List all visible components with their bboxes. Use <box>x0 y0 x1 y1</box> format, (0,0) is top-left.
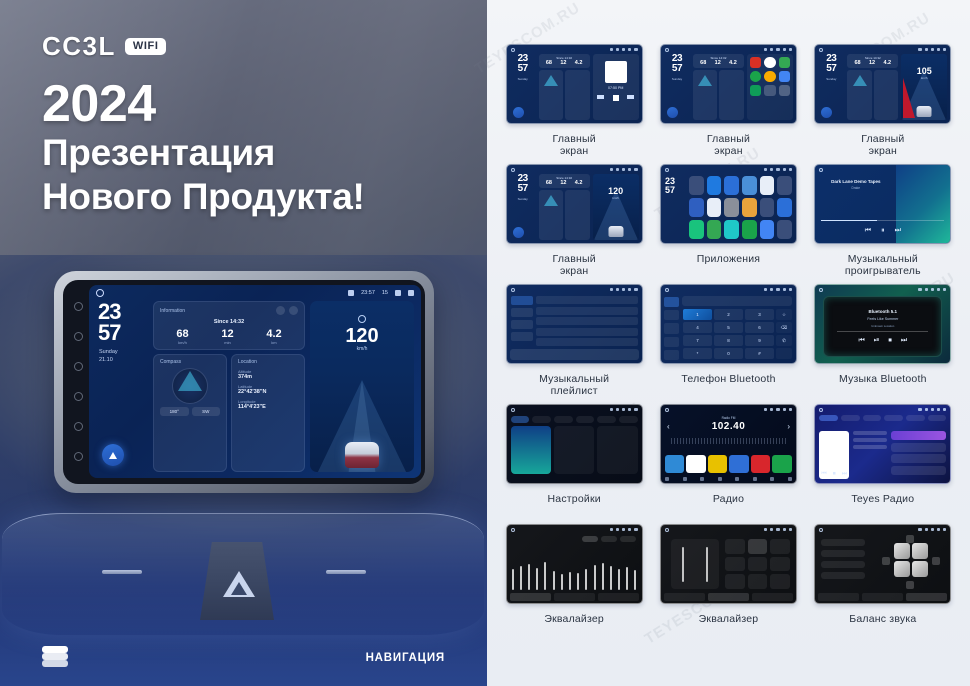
compass-title: Compass <box>160 359 220 365</box>
radio-frequency: 102.40 <box>661 421 796 432</box>
teyes-radio-tabs[interactable] <box>819 415 946 421</box>
gallery-item[interactable]: 2357Sunday Since 14:3268124.2 120km/h Гл… <box>501 164 647 284</box>
gallery-item[interactable]: Bluetooth 5.1 Feels Like Summer Unknown … <box>810 284 956 404</box>
home-icon[interactable] <box>96 289 104 297</box>
station-list[interactable] <box>891 431 946 479</box>
next-station-icon[interactable]: › <box>787 422 790 431</box>
mini-status-bar <box>661 525 796 534</box>
mini-widgets: Since 14:3268124.2 <box>539 54 590 120</box>
location-altitude: Altitude 374m <box>238 369 298 380</box>
stat-distance: 4.2 km <box>266 328 281 345</box>
thumbnail-caption: Телефон Bluetooth <box>655 373 801 385</box>
app-icon <box>760 220 775 239</box>
speaker-front-left <box>894 543 910 559</box>
thumbnail-home-apps[interactable]: 2357Sunday Since 14:3268124.2 <box>660 44 797 124</box>
thumbnail-caption: Главный экран <box>501 253 647 278</box>
app-grid[interactable] <box>689 176 792 239</box>
speaker-front-right <box>912 543 928 559</box>
clock-day: Sunday <box>96 348 148 356</box>
thumbnail-caption: Настройки <box>501 493 647 505</box>
mini-home-layout: 2357Sunday Since 14:3268124.2 105km/h <box>818 54 947 120</box>
car-graphic <box>345 442 379 468</box>
hero-footer: НАВИГАЦИЯ <box>0 624 487 686</box>
thumbnail-bt-music[interactable]: Bluetooth 5.1 Feels Like Summer Unknown … <box>814 284 951 364</box>
mini-clock: 2357Sunday <box>510 54 536 120</box>
settings-tabs[interactable] <box>511 416 638 423</box>
thumbnail-music-player[interactable]: Dark Lane Demo Tapes Drake ⏮ ⏸ ⏭ <box>814 164 951 244</box>
track-title: Feels Like Summer <box>867 317 898 321</box>
dial-key: 7 <box>683 335 712 346</box>
lane-warning-graphic <box>903 78 915 118</box>
car-graphic <box>608 226 623 237</box>
star-icon: ☆ <box>776 309 792 320</box>
progress-bar[interactable] <box>837 331 928 332</box>
mini-widgets: Since 14:3268124.2 <box>847 54 898 120</box>
back-icon[interactable] <box>408 290 414 296</box>
thumbnail-caption: Баланс звука <box>810 613 956 625</box>
thumbnail-settings[interactable] <box>506 404 643 484</box>
key-power-icon[interactable] <box>74 332 83 341</box>
thumbnail-teyes-radio[interactable]: ⏮⏹⏭ <box>814 404 951 484</box>
lower-widgets-row: Compass 180° SW <box>153 354 305 472</box>
speed-unit: km/h <box>357 346 368 352</box>
status-bar: 23:57 15 <box>89 285 421 301</box>
home-screen-body: 23 57 Sunday 21.10 Information <box>89 301 421 478</box>
next-icon[interactable]: ⏭ <box>901 337 907 345</box>
layers-icon-sheet-1 <box>42 646 68 653</box>
gallery-item[interactable]: Настройки <box>501 404 647 524</box>
gallery-item[interactable]: 2357 <box>655 164 801 284</box>
thumbnail-equalizer-fader[interactable] <box>660 524 797 604</box>
thumbnail-caption: Главный экран <box>655 133 801 158</box>
speaker-rear-right <box>912 561 928 577</box>
key-back-icon[interactable] <box>74 392 83 401</box>
app-icon <box>777 220 792 239</box>
clock-date: 21.10 <box>96 356 148 364</box>
status-time: 23:57 <box>361 290 375 296</box>
head-unit-screen[interactable]: 23:57 15 23 57 Sunday 21.10 <box>89 285 421 478</box>
mini-compass <box>847 70 872 120</box>
headline-year: 2024 <box>42 78 365 131</box>
app-icon <box>760 198 775 217</box>
app-icon <box>689 198 704 217</box>
mini-nav-panel: 105km/h <box>901 54 947 120</box>
frequency-scale[interactable] <box>671 438 786 444</box>
mini-home-layout: 2357Sunday Since 14:3268124.2 120km/h <box>510 174 639 240</box>
key-minus-icon[interactable] <box>74 302 83 311</box>
speed-readout: 120km/h <box>593 186 639 200</box>
location-title: Location <box>238 359 298 365</box>
air-vent-left <box>102 570 142 574</box>
pause-icon[interactable]: ⏸ <box>881 227 885 235</box>
mini-info-card: Since 14:3268124.2 <box>539 54 590 68</box>
layers-icon[interactable] <box>42 646 68 668</box>
gallery-item[interactable]: Dark Lane Demo Tapes Drake ⏮ ⏸ ⏭ Музыкал… <box>810 164 956 284</box>
mini-home-layout: 2357Sunday Since 14:3268124.2 <box>664 54 793 120</box>
call-icon: ✆ <box>776 335 792 346</box>
balance-up-button[interactable] <box>906 535 914 543</box>
carplay-card <box>554 426 594 474</box>
clock-minutes: 57 <box>96 322 148 343</box>
app-icon <box>724 176 739 195</box>
headline-line-2: Нового Продукта! <box>42 175 365 219</box>
station-info <box>853 431 887 479</box>
status-icons <box>610 48 638 51</box>
refresh-icon[interactable] <box>289 306 298 315</box>
status-volume: 15 <box>382 290 388 296</box>
information-actions[interactable] <box>276 306 298 315</box>
previous-icon: ⏮ <box>821 471 826 478</box>
thumbnail-equalizer-bars[interactable] <box>506 524 643 604</box>
app-icon <box>689 220 704 239</box>
mini-lower-row <box>539 70 590 120</box>
phone-sidebar[interactable] <box>664 297 679 360</box>
app-icon <box>742 176 757 195</box>
dial-key: 1 <box>683 309 712 320</box>
thumbnail-caption: Музыка Bluetooth <box>810 373 956 385</box>
location-card[interactable]: Location Altitude 374m Latitude 22°42'38… <box>231 354 305 472</box>
thumbnail-playlist[interactable] <box>506 284 643 364</box>
head-unit-bezel: 23:57 15 23 57 Sunday 21.10 <box>54 271 434 493</box>
status-icons: 23:57 15 <box>348 290 414 296</box>
layers-icon-sheet-3 <box>42 660 68 667</box>
radio-toolbar[interactable] <box>665 477 792 481</box>
number-field[interactable] <box>682 296 792 306</box>
progress-bar[interactable] <box>821 220 944 221</box>
gallery-item[interactable]: 2357Sunday Since 14:3268124.2 105km/h <box>810 44 956 164</box>
bt-music-card: Bluetooth 5.1 Feels Like Summer Unknown … <box>823 296 942 357</box>
station-presets[interactable] <box>665 455 792 473</box>
compass-dial <box>172 368 208 404</box>
stat-speed-value: 68 <box>176 328 188 340</box>
app-icon <box>707 176 722 195</box>
assistant-button[interactable] <box>102 444 124 466</box>
mini-clock: 2357Sunday <box>818 54 844 120</box>
speaker-pad[interactable] <box>894 543 928 577</box>
gps-icon <box>395 290 401 296</box>
stop-icon: ⏹ <box>833 471 836 478</box>
dial-key: 4 <box>683 322 712 333</box>
mini-widgets: Since 14:3268124.2 <box>539 174 590 240</box>
eq-tabs[interactable] <box>818 593 947 601</box>
speed-limit-icon <box>358 315 366 323</box>
speed-value: 105 <box>917 66 932 76</box>
bluetooth-badge: Bluetooth 5.1 <box>869 309 898 314</box>
stop-icon[interactable]: ⏹ <box>888 337 892 345</box>
car-graphic <box>917 106 932 117</box>
mini-status-bar <box>661 165 796 174</box>
mini-player-bar[interactable] <box>510 349 639 360</box>
mini-clock: 2357Sunday <box>664 54 690 120</box>
thumbnail-caption: Главный экран <box>810 133 956 158</box>
compass-readout: 180° SW <box>160 407 220 416</box>
mini-location <box>719 70 744 120</box>
mini-status-bar <box>507 525 642 534</box>
mini-widgets: Since 14:3268124.2 <box>693 54 744 120</box>
thumbnail-caption: Эквалайзер <box>501 613 647 625</box>
stat-speed-unit: km/h <box>178 340 187 345</box>
dial-key: 0 <box>714 348 743 359</box>
mini-clock: 2357Sunday <box>510 174 536 240</box>
mini-info-card: Since 14:3268124.2 <box>539 174 590 188</box>
app-icon <box>777 176 792 195</box>
mini-status-bar <box>661 405 796 414</box>
next-icon[interactable]: ⏭ <box>895 227 901 235</box>
headline-line-1: Презентация <box>42 131 365 175</box>
logo-model: CC3L <box>42 33 116 59</box>
logo-wifi-badge: WIFI <box>125 38 166 55</box>
settings-gear-icon[interactable] <box>276 306 285 315</box>
mini-status-bar <box>507 285 642 294</box>
mini-clock: 2357 <box>665 177 675 195</box>
balance-down-button[interactable] <box>906 581 914 589</box>
mini-app-panel <box>747 54 793 120</box>
compass-cone-icon <box>178 371 202 391</box>
mini-status-bar <box>507 405 642 414</box>
stat-distance-unit: km <box>271 340 276 345</box>
mini-location <box>565 190 590 240</box>
gallery-item[interactable]: 1 2 3 ☆ 4 5 6 ⌫ 7 8 9 ✆ * 0 # <box>655 284 801 404</box>
settings-cards[interactable] <box>511 426 638 474</box>
app-icon <box>760 176 775 195</box>
app-icon <box>724 198 739 217</box>
previous-icon[interactable]: ⏮ <box>865 227 871 235</box>
app-icons <box>750 57 790 96</box>
settings-layout <box>511 416 638 479</box>
speed-readout: 105km/h <box>901 66 947 80</box>
altitude-value: 374m <box>238 374 252 380</box>
wifi-icon <box>348 290 354 296</box>
media-controls[interactable]: ⏮⏹⏭ <box>821 471 847 478</box>
navigation-label: НАВИГАЦИЯ <box>366 652 445 664</box>
information-title: Information <box>160 308 185 314</box>
gallery-item[interactable]: Radio FM 102.40 ‹ › Радио <box>655 404 801 524</box>
backspace-icon: ⌫ <box>776 322 792 333</box>
compass-heading: 180° <box>160 407 189 416</box>
thumbnail-sound-balance[interactable] <box>814 524 951 604</box>
dial-key: 5 <box>714 322 743 333</box>
thumbnail-apps[interactable]: 2357 <box>660 164 797 244</box>
mini-location <box>874 70 899 120</box>
mini-status-bar <box>815 285 950 294</box>
headline-block: 2024 Презентация Нового Продукта! <box>42 78 365 218</box>
wifi-card <box>511 426 551 474</box>
dial-pad[interactable]: 1 2 3 ☆ 4 5 6 ⌫ 7 8 9 ✆ * 0 # <box>683 309 792 359</box>
head-unit-body: 23:57 15 23 57 Sunday 21.10 <box>63 280 425 484</box>
latitude-value: 22°42'38"N <box>238 389 266 395</box>
longitude-value: 114°4'23"E <box>238 404 266 410</box>
next-icon: ⏭ <box>842 471 847 478</box>
dial-key: 3 <box>745 309 774 320</box>
app-icon <box>689 176 704 195</box>
dial-key: # <box>745 348 774 359</box>
mini-home-layout: 2357Sunday Since 14:3268124.2 07:50 PM <box>510 54 639 120</box>
app-icon <box>724 220 739 239</box>
mini-nav-panel: 120km/h <box>593 174 639 240</box>
stat-distance-value: 4.2 <box>266 328 281 340</box>
eq-tabs[interactable] <box>664 593 793 601</box>
balance-right-button[interactable] <box>932 557 940 565</box>
track-time: 07:50 PM <box>593 86 639 90</box>
key-volume-up-icon[interactable] <box>74 452 83 461</box>
thumbnail-home-media[interactable]: 2357Sunday Since 14:3268124.2 07:50 PM <box>506 44 643 124</box>
gallery-item[interactable]: Баланс звука <box>810 524 956 644</box>
widgets-column: Information Since 14:32 <box>153 301 305 472</box>
hero-panel: CC3L WIFI 2024 Презентация Нового Продук… <box>0 0 487 686</box>
media-controls <box>593 95 639 101</box>
air-vent-right <box>326 570 366 574</box>
dial-key: 2 <box>714 309 743 320</box>
mini-location <box>565 70 590 120</box>
speed-value: 120 <box>310 326 414 346</box>
speed-readout: 120 km/h <box>310 315 414 352</box>
app-icon <box>707 220 722 239</box>
track-artist: Drake <box>821 186 890 190</box>
mini-status-bar <box>815 405 950 414</box>
stat-speed: 68 km/h <box>176 328 188 345</box>
screenshot-gallery: TEYESCOM.RU TEYESCOM.RU TEYESCOM.RU TEYE… <box>487 0 970 686</box>
eq-tabs[interactable] <box>510 593 639 601</box>
information-card[interactable]: Information Since 14:32 <box>153 301 305 350</box>
eq-presets[interactable] <box>582 536 636 542</box>
previous-station-icon[interactable]: ‹ <box>667 422 670 431</box>
mini-compass <box>693 70 718 120</box>
layers-icon-sheet-2 <box>42 653 68 660</box>
more-card <box>597 426 637 474</box>
mini-status-bar <box>661 285 796 294</box>
dial-key: 9 <box>745 335 774 346</box>
home-icon <box>511 48 515 52</box>
gallery-item[interactable]: 2357Sunday Since 14:3268124.2 <box>655 44 801 164</box>
balance-options[interactable] <box>821 539 865 579</box>
information-header: Information <box>160 306 298 315</box>
mini-compass <box>539 190 564 240</box>
dial-key: 8 <box>714 335 743 346</box>
fader-sliders[interactable] <box>671 539 719 589</box>
speaker-rear-left <box>894 561 910 577</box>
stat-time-unit: min <box>224 340 230 345</box>
mini-status-bar <box>815 525 950 534</box>
track-title: Dark Lane Demo Tapes <box>821 179 890 184</box>
previous-icon[interactable]: ⏮ <box>858 337 864 345</box>
car-dashboard-photo: 23:57 15 23 57 Sunday 21.10 <box>0 255 487 686</box>
hazard-triangle-inner <box>231 582 247 595</box>
navigation-widget[interactable]: 120 km/h <box>310 301 414 472</box>
thumbnail-caption: Главный экран <box>501 133 647 158</box>
mini-info-card: Since 14:3268124.2 <box>693 54 744 68</box>
app-icon <box>777 198 792 217</box>
dial-key: 6 <box>745 322 774 333</box>
dial-key: * <box>683 348 712 359</box>
media-controls[interactable]: ⏮ ⏯ ⏹ ⏭ <box>858 337 907 345</box>
app-icon <box>742 198 757 217</box>
information-stats: 68 km/h 12 min 4.2 <box>160 328 298 345</box>
equalizer-sliders[interactable] <box>512 547 637 590</box>
key-volume-down-icon[interactable] <box>74 422 83 431</box>
track-artist: Unknown Location <box>871 324 894 328</box>
thumbnail-home-nav[interactable]: 2357Sunday Since 14:3268124.2 120km/h <box>506 164 643 244</box>
clock-widget[interactable]: 23 57 Sunday 21.10 <box>96 301 148 472</box>
mini-compass <box>539 70 564 120</box>
thumbnail-caption: Музыкальный проигрыватель <box>810 253 956 278</box>
key-home-icon[interactable] <box>74 362 83 371</box>
product-logo: CC3L WIFI <box>42 33 166 59</box>
information-since: Since 14:32 <box>160 319 298 325</box>
assistant-button <box>513 107 524 118</box>
mini-media-panel: 07:50 PM <box>593 54 639 120</box>
album-art <box>605 61 627 83</box>
gallery-item[interactable]: Музыкальный плейлист <box>501 284 647 404</box>
head-unit-side-keys[interactable] <box>67 285 89 478</box>
stat-time: 12 min <box>221 328 233 345</box>
compass-card[interactable]: Compass 180° SW <box>153 354 227 472</box>
clock-hours: 23 <box>96 301 148 322</box>
thumbnail-caption: Приложения <box>655 253 801 265</box>
play-pause-icon[interactable]: ⏯ <box>874 337 880 345</box>
compass-direction: SW <box>192 407 221 416</box>
stat-time-value: 12 <box>221 328 233 340</box>
sound-effect-buttons[interactable] <box>725 539 790 589</box>
gallery-item[interactable]: 2357Sunday Since 14:3268124.2 07:50 PM <box>501 44 647 164</box>
location-latitude: Latitude 22°42'38"N <box>238 384 298 395</box>
thumbnail-caption: Музыкальный плейлист <box>501 373 647 398</box>
radio-band: Radio FM <box>661 416 796 420</box>
thumbnail-radio[interactable]: Radio FM 102.40 ‹ › <box>660 404 797 484</box>
media-controls[interactable]: ⏮ ⏸ ⏭ <box>815 227 950 235</box>
thumbnail-caption: Teyes Радио <box>810 493 956 505</box>
mini-info-card: Since 14:3268124.2 <box>847 54 898 68</box>
app-icon <box>707 198 722 217</box>
thumbnail-bt-phone[interactable]: 1 2 3 ☆ 4 5 6 ⌫ 7 8 9 ✆ * 0 # <box>660 284 797 364</box>
presentation-slide: CC3L WIFI 2024 Презентация Нового Продук… <box>0 0 970 686</box>
thumbnail-home-nav-red[interactable]: 2357Sunday Since 14:3268124.2 105km/h <box>814 44 951 124</box>
location-longitude: Longitude 114°4'23"E <box>238 399 298 410</box>
app-icon <box>742 220 757 239</box>
speed-value: 120 <box>608 186 623 196</box>
thumbnail-caption: Радио <box>655 493 801 505</box>
gallery-item[interactable]: ⏮⏹⏭ Teyes Радио <box>810 404 956 524</box>
gallery-item[interactable]: Эквалайзер <box>655 524 801 644</box>
gallery-item[interactable]: Эквалайзер <box>501 524 647 644</box>
balance-left-button[interactable] <box>882 557 890 565</box>
thumbnail-caption: Эквалайзер <box>655 613 801 625</box>
thumbnail-grid: 2357Sunday Since 14:3268124.2 07:50 PM <box>501 44 956 644</box>
